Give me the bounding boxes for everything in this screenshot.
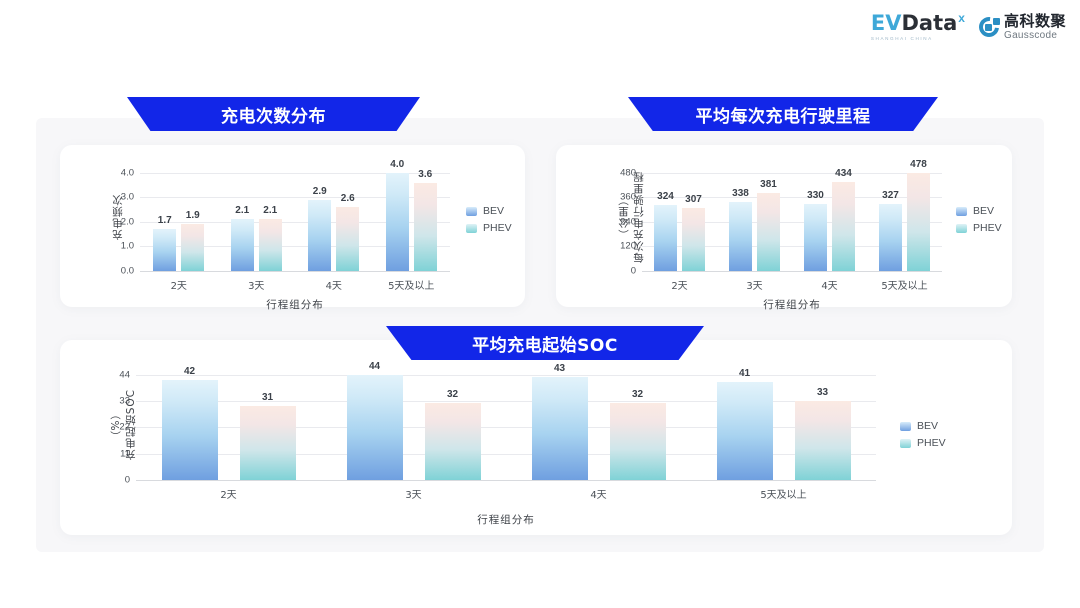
- bar-bev-0: [654, 205, 677, 271]
- x-axis-tick-label: 4天: [590, 486, 606, 501]
- bar-value-label: 41: [739, 368, 750, 379]
- bar-bev-0: [153, 229, 176, 271]
- bar-phev-3: [907, 173, 930, 271]
- bar-bev-3: [386, 173, 409, 271]
- bar-bev-3: [879, 204, 902, 271]
- bar-value-label: 1.7: [158, 215, 172, 226]
- bar-value-label: 478: [910, 159, 927, 170]
- slide-root: EVData x SHANGHAI CHINA 高科数聚 Gausscode 0…: [0, 0, 1080, 608]
- bar-phev-1: [259, 219, 282, 271]
- gausscode-mark-icon: [979, 17, 999, 37]
- x-axis-tick-label: 4天: [326, 277, 342, 292]
- bar-bev-3: [717, 382, 773, 480]
- x-axis-tick-label: 2天: [220, 486, 236, 501]
- y-axis-title-line: 充电频次: [110, 194, 125, 240]
- evdata-tagline: SHANGHAI CHINA: [871, 36, 933, 41]
- bar-value-label: 3.6: [418, 169, 432, 180]
- legend-swatch-phev-icon: [956, 224, 967, 233]
- bar-value-label: 44: [369, 361, 380, 372]
- plot-area: 01202403604803243072天3383813天3304344天327…: [642, 163, 942, 271]
- bar-phev-0: [682, 208, 705, 271]
- x-axis-tick-label: 3天: [248, 277, 264, 292]
- bar-phev-0: [240, 406, 296, 480]
- bar-value-label: 1.9: [186, 210, 200, 221]
- bar-bev-1: [347, 375, 403, 480]
- bar-value-label: 31: [262, 392, 273, 403]
- y-axis-title-line: （%）: [108, 408, 123, 442]
- legend-swatch-bev-icon: [466, 207, 477, 216]
- bar-value-label: 2.6: [341, 193, 355, 204]
- bar-bev-2: [308, 200, 331, 271]
- x-axis-tick-label: 3天: [405, 486, 421, 501]
- x-axis-line: [140, 271, 450, 272]
- chart-title-banner-3: 平均充电起始SOC: [386, 326, 704, 360]
- chart-card-charging-frequency: 0.01.02.03.04.01.71.92天2.12.13天2.92.64天4…: [60, 145, 525, 307]
- legend-swatch-bev-icon: [956, 207, 967, 216]
- bar-phev-2: [832, 182, 855, 271]
- legend-label: BEV: [973, 205, 994, 217]
- bar-bev-1: [729, 202, 752, 271]
- bar-phev-3: [795, 401, 851, 480]
- y-axis-title: 每次充电行驶里程（公里）: [616, 163, 646, 271]
- chart-title-banner-2: 平均每次充电行驶里程: [628, 97, 938, 131]
- bar-bev-2: [804, 204, 827, 272]
- legend-item-phev[interactable]: PHEV: [900, 437, 946, 449]
- evdata-superscript-x: x: [958, 11, 965, 25]
- bar-value-label: 330: [807, 190, 824, 201]
- legend-label: BEV: [483, 205, 504, 217]
- bar-value-label: 2.9: [313, 186, 327, 197]
- bar-phev-2: [336, 207, 359, 271]
- chart-legend: BEVPHEV: [956, 205, 1002, 234]
- bar-value-label: 307: [685, 194, 702, 205]
- legend-item-phev[interactable]: PHEV: [466, 222, 512, 234]
- x-axis-line: [642, 271, 942, 272]
- x-axis-title: 行程组分布: [763, 297, 821, 312]
- legend-swatch-phev-icon: [900, 439, 911, 448]
- logo-bar: EVData x SHANGHAI CHINA 高科数聚 Gausscode: [871, 13, 1066, 41]
- bar-value-label: 338: [732, 188, 749, 199]
- evdata-logo: EVData x SHANGHAI CHINA: [871, 13, 965, 41]
- bar-value-label: 2.1: [263, 205, 277, 216]
- bar-value-label: 2.1: [235, 205, 249, 216]
- x-axis-line: [136, 480, 876, 481]
- bar-value-label: 43: [554, 363, 565, 374]
- x-axis-tick-label: 5天及以上: [881, 277, 927, 292]
- y-axis-title-line: 充电起始SOC: [123, 389, 138, 460]
- legend-swatch-bev-icon: [900, 422, 911, 431]
- bar-value-label: 381: [760, 179, 777, 190]
- plot-area: 01122334442312天44323天43324天41335天及以上: [136, 370, 876, 480]
- legend-item-bev[interactable]: BEV: [900, 420, 946, 432]
- gridline: [136, 375, 876, 376]
- x-axis-tick-label: 2天: [171, 277, 187, 292]
- legend-label: BEV: [917, 420, 938, 432]
- bar-phev-2: [610, 403, 666, 480]
- legend-label: PHEV: [917, 437, 946, 449]
- gridline: [642, 173, 942, 174]
- legend-swatch-phev-icon: [466, 224, 477, 233]
- evdata-data-text: Data: [901, 11, 957, 35]
- evdata-wordmark: EVData: [871, 13, 957, 34]
- legend-item-bev[interactable]: BEV: [956, 205, 1002, 217]
- bar-bev-0: [162, 380, 218, 480]
- chart-title-banner-1: 充电次数分布: [127, 97, 420, 131]
- bar-value-label: 324: [657, 191, 674, 202]
- gausscode-en-name: Gausscode: [1004, 31, 1066, 41]
- chart-legend: BEVPHEV: [466, 205, 512, 234]
- gausscode-logo: 高科数聚 Gausscode: [979, 14, 1066, 41]
- gausscode-cn-name: 高科数聚: [1004, 14, 1066, 29]
- bar-value-label: 33: [817, 387, 828, 398]
- x-axis-tick-label: 2天: [671, 277, 687, 292]
- bar-value-label: 32: [632, 389, 643, 400]
- bar-value-label: 327: [882, 190, 899, 201]
- bar-value-label: 32: [447, 389, 458, 400]
- bar-value-label: 42: [184, 366, 195, 377]
- chart-legend: BEVPHEV: [900, 420, 946, 449]
- bar-value-label: 434: [835, 168, 852, 179]
- x-axis-title: 行程组分布: [477, 512, 535, 527]
- chart-card-start-soc: 01122334442312天44323天43324天41335天及以上充电起始…: [60, 340, 1012, 535]
- legend-item-bev[interactable]: BEV: [466, 205, 512, 217]
- y-axis-title-line: （公里）: [616, 194, 631, 240]
- bar-phev-0: [181, 224, 204, 271]
- y-axis-title-line: 每次充电行驶里程: [631, 171, 646, 263]
- x-axis-tick-label: 4天: [821, 277, 837, 292]
- x-axis-tick-label: 3天: [746, 277, 762, 292]
- bar-phev-1: [425, 403, 481, 480]
- y-axis-title: 充电频次: [110, 163, 125, 271]
- bar-phev-1: [757, 193, 780, 271]
- legend-label: PHEV: [483, 222, 512, 234]
- x-axis-title: 行程组分布: [266, 297, 324, 312]
- legend-label: PHEV: [973, 222, 1002, 234]
- bar-bev-2: [532, 377, 588, 480]
- x-axis-tick-label: 5天及以上: [388, 277, 434, 292]
- chart-card-distance-per-charge: 01202403604803243072天3383813天3304344天327…: [556, 145, 1012, 307]
- x-axis-tick-label: 5天及以上: [760, 486, 806, 501]
- bar-value-label: 4.0: [390, 159, 404, 170]
- bar-phev-3: [414, 183, 437, 271]
- plot-area: 0.01.02.03.04.01.71.92天2.12.13天2.92.64天4…: [140, 163, 450, 271]
- y-axis-title: 充电起始SOC（%）: [108, 370, 138, 480]
- legend-item-phev[interactable]: PHEV: [956, 222, 1002, 234]
- evdata-ev-text: EV: [871, 11, 902, 35]
- bar-bev-1: [231, 219, 254, 271]
